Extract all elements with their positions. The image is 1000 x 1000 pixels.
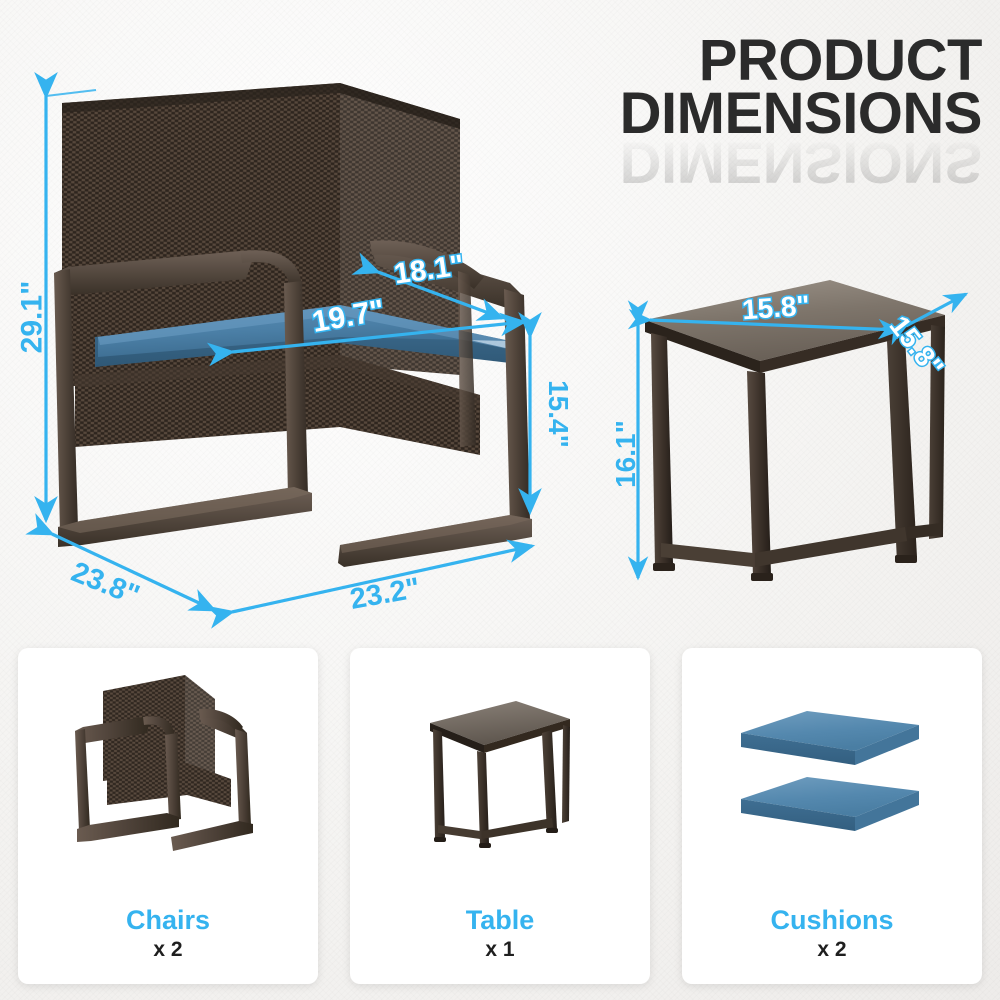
table-card-title: Table [466, 905, 535, 936]
chairs-card-quantity: x 2 [153, 938, 182, 962]
table-top-width-label: 15.8" [741, 290, 811, 327]
page-title-line-2: DIMENSIONS [620, 87, 982, 140]
cushions-card-quantity: x 2 [817, 938, 846, 962]
cushions-card[interactable]: Cushions x 2 [682, 648, 982, 984]
chairs-card-title: Chairs [126, 905, 210, 936]
chairs-card[interactable]: Chairs x 2 [18, 648, 318, 984]
page-title-line-1: PRODUCT [620, 34, 982, 87]
cushions-card-art [682, 648, 982, 905]
chair-illustration [40, 75, 560, 605]
cushions-card-title: Cushions [770, 905, 893, 936]
cushions-icon [737, 707, 927, 847]
chair-height-label: 29.1" [15, 281, 49, 354]
table-card-quantity: x 1 [485, 938, 514, 962]
chairs-card-art [18, 648, 318, 905]
side-table-icon [420, 697, 580, 857]
table-card[interactable]: Table x 1 [350, 648, 650, 984]
page-title-reflection: DIMENSIONS [620, 135, 982, 188]
chair-icon [63, 669, 273, 884]
table-height-label: 16.1" [610, 420, 642, 488]
table-card-art [350, 648, 650, 905]
product-contents-cards: Chairs x 2 [0, 648, 1000, 1000]
chair-seat-height-label: 15.4" [542, 380, 574, 448]
page-title: PRODUCT DIMENSIONS DIMENSIONS [620, 34, 982, 188]
